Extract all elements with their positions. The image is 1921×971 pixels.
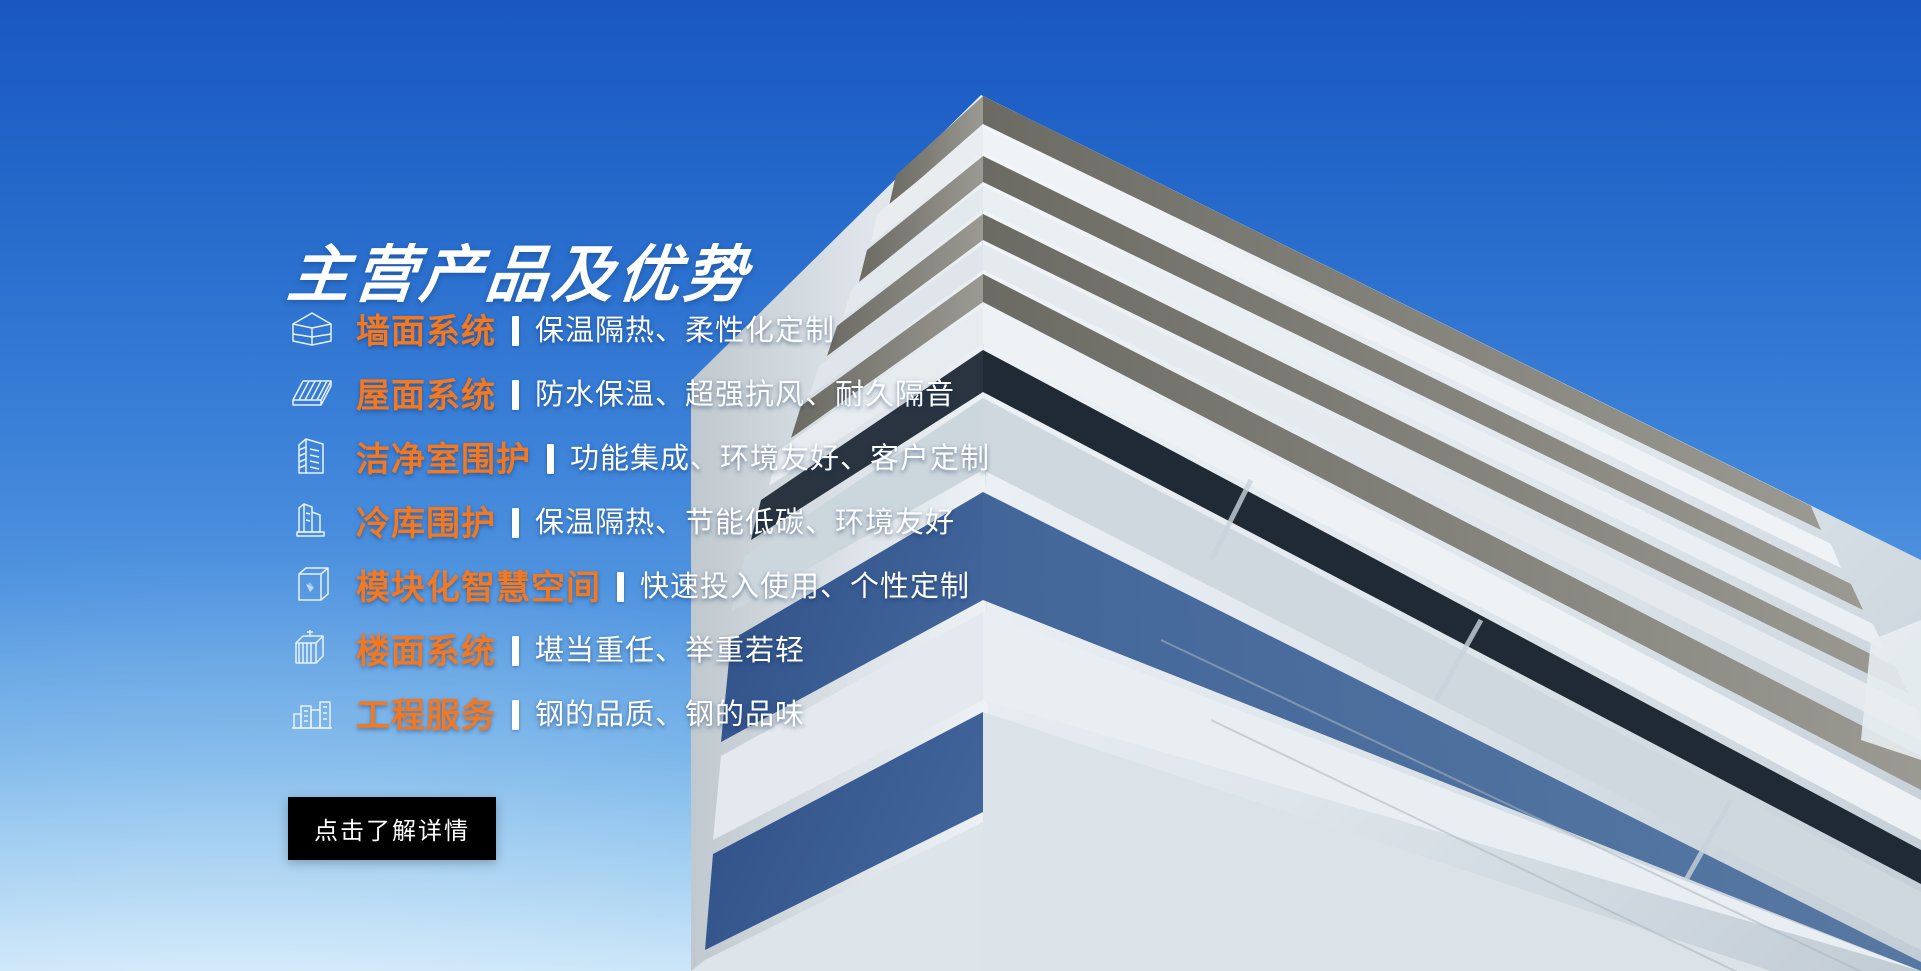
floor-deck-icon: [286, 625, 338, 671]
product-name: 楼面系统: [356, 624, 496, 673]
modular-cube-icon: [286, 561, 338, 607]
product-name: 墙面系统: [356, 304, 496, 353]
learn-more-button[interactable]: 点击了解详情: [288, 797, 496, 860]
product-name: 洁净室围护: [356, 432, 531, 481]
list-item[interactable]: 工程服务 钢的品质、钢的品味: [286, 680, 1106, 744]
separator-bar: [512, 508, 519, 538]
product-description: 防水保温、超强抗风、耐久隔音: [535, 371, 955, 413]
product-description: 堪当重任、举重若轻: [535, 627, 805, 669]
banner-content: 主营产品及优势 墙面系统 保温隔热、柔性化定制: [0, 0, 1000, 971]
cold-storage-icon: [286, 497, 338, 543]
product-description: 快速投入使用、个性定制: [640, 563, 970, 605]
cleanroom-building-icon: [286, 433, 338, 479]
product-name: 屋面系统: [356, 368, 496, 417]
hero-banner: 主营产品及优势 墙面系统 保温隔热、柔性化定制: [0, 0, 1921, 971]
separator-bar: [547, 444, 554, 474]
product-description: 保温隔热、节能低碳、环境友好: [535, 499, 955, 541]
product-description: 钢的品质、钢的品味: [535, 691, 805, 733]
wall-panel-icon: [286, 305, 338, 351]
engineering-service-icon: [286, 689, 338, 735]
list-item[interactable]: 屋面系统 防水保温、超强抗风、耐久隔音: [286, 360, 1106, 424]
list-item[interactable]: 楼面系统 堪当重任、举重若轻: [286, 616, 1106, 680]
separator-bar: [617, 572, 624, 602]
roof-panel-icon: [286, 369, 338, 415]
product-name: 工程服务: [356, 688, 496, 737]
list-item[interactable]: 模块化智慧空间 快速投入使用、个性定制: [286, 552, 1106, 616]
product-description: 保温隔热、柔性化定制: [535, 307, 835, 349]
separator-bar: [512, 380, 519, 410]
product-description: 功能集成、环境友好、客户定制: [570, 435, 990, 477]
list-item[interactable]: 洁净室围护 功能集成、环境友好、客户定制: [286, 424, 1106, 488]
list-item[interactable]: 冷库围护 保温隔热、节能低碳、环境友好: [286, 488, 1106, 552]
product-name: 冷库围护: [356, 496, 496, 545]
product-list: 墙面系统 保温隔热、柔性化定制 屋面系统 防水保温、超强抗风、耐久隔音: [286, 296, 1106, 744]
separator-bar: [512, 700, 519, 730]
product-name: 模块化智慧空间: [356, 560, 601, 609]
list-item[interactable]: 墙面系统 保温隔热、柔性化定制: [286, 296, 1106, 360]
separator-bar: [512, 316, 519, 346]
separator-bar: [512, 636, 519, 666]
